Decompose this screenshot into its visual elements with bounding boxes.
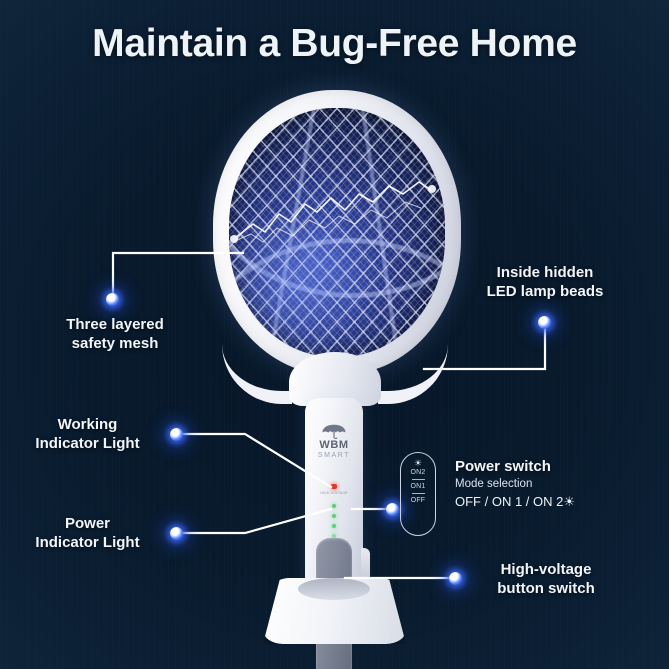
power-switch-modes-text: OFF / ON 1 / ON 2 [455, 494, 563, 509]
racket-yoke-left [222, 333, 292, 404]
callout-mesh-line1: Three layered [25, 315, 205, 334]
switch-position-on2: ON2 [411, 468, 426, 477]
working-led-2 [332, 514, 336, 518]
callout-label-power-indicator: Power Indicator Light [10, 514, 165, 552]
callout-power-line2: Indicator Light [10, 533, 165, 552]
charging-base-slot [298, 578, 370, 600]
working-led-3 [332, 524, 336, 528]
callout-led-line2: LED lamp beads [465, 282, 625, 301]
callout-dot-mesh[interactable] [106, 293, 119, 306]
racket-handle: WBM SMART HIGH VOLTAGE [305, 398, 363, 606]
callout-label-led: Inside hidden LED lamp beads [465, 263, 625, 301]
callout-hv-line2: button switch [466, 579, 626, 598]
callout-dot-working-indicator[interactable] [170, 428, 183, 441]
infographic-canvas: Maintain a Bug-Free Home [0, 0, 669, 669]
callout-label-mesh: Three layered safety mesh [25, 315, 205, 353]
callout-label-working-indicator: Working Indicator Light [10, 415, 165, 453]
power-indicator-led [331, 484, 337, 489]
power-switch-title: Power switch [455, 458, 551, 475]
callout-working-line2: Indicator Light [10, 434, 165, 453]
power-switch-modes: OFF / ON 1 / ON 2☀ [455, 494, 575, 510]
led-caption: HIGH VOLTAGE [305, 491, 363, 495]
racket-mesh [229, 108, 445, 357]
callout-dot-high-voltage[interactable] [449, 572, 462, 585]
racket-yoke-right [378, 333, 448, 404]
callout-dot-power-switch[interactable] [386, 503, 399, 516]
power-switch-diagram: ☀ ON2 ON1 OFF [400, 452, 436, 536]
brand-logo: WBM SMART [305, 424, 363, 460]
switch-position-off: OFF [411, 496, 426, 505]
switch-position-on1: ON1 [411, 482, 426, 491]
working-led-1 [332, 504, 336, 508]
switch-divider-2 [412, 493, 425, 494]
callout-working-line1: Working [10, 415, 165, 434]
brand-name: WBM [305, 440, 363, 451]
callout-mesh-line2: safety mesh [25, 334, 205, 353]
callout-label-high-voltage: High-voltage button switch [466, 560, 626, 598]
callout-led-line1: Inside hidden [465, 263, 625, 282]
power-switch-subtitle: Mode selection [455, 478, 532, 490]
callout-hv-line1: High-voltage [466, 560, 626, 579]
mesh-glow [229, 108, 445, 357]
callout-dot-power-indicator[interactable] [170, 527, 183, 540]
switch-divider-1 [412, 479, 425, 480]
switch-lamp-icon: ☀ [414, 459, 422, 468]
umbrella-icon [321, 424, 347, 439]
callout-power-line1: Power [10, 514, 165, 533]
power-switch-modes-lamp-icon: ☀ [563, 494, 575, 509]
callout-dot-led[interactable] [538, 316, 551, 329]
brand-sub: SMART [305, 451, 363, 460]
